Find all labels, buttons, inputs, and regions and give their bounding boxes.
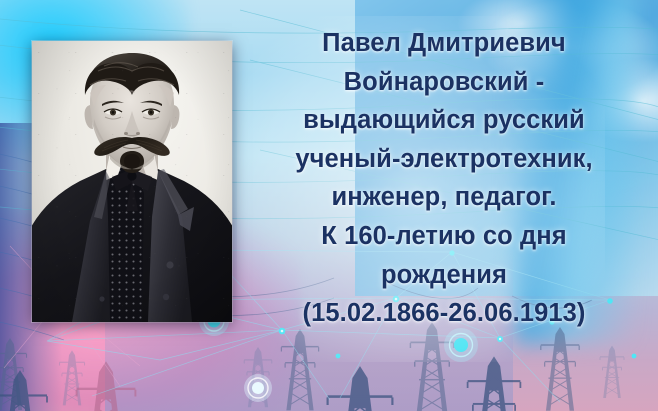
- title-line-2: Войнаровский -: [258, 63, 630, 102]
- title-line-5: инженер, педагог.: [258, 178, 630, 217]
- title-line-1: Павел Дмитриевич: [258, 24, 630, 63]
- life-dates-line: (15.02.1866-26.06.1913): [258, 294, 630, 333]
- portrait-photo: [32, 41, 232, 322]
- title-line-6: К 160-летию со дня: [258, 217, 630, 256]
- title-line-3: выдающийся русский: [258, 101, 630, 140]
- title-line-4: ученый-электротехник,: [258, 140, 630, 179]
- photo-vignette: [32, 41, 232, 322]
- page-title: Павел Дмитриевич Войнаровский - выдающий…: [258, 24, 630, 333]
- slide-canvas: Павел Дмитриевич Войнаровский - выдающий…: [0, 0, 658, 411]
- title-line-7: рождения: [258, 256, 630, 295]
